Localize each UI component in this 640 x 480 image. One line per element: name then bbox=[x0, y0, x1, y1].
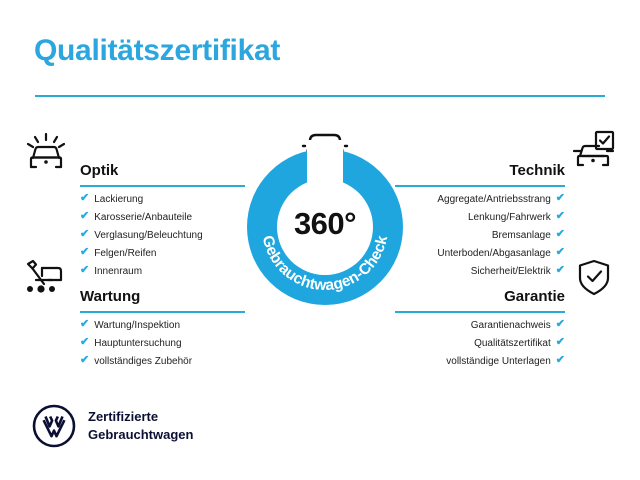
shield-check-icon bbox=[572, 258, 616, 298]
check-icon: ✔ bbox=[80, 355, 89, 366]
list-item-label: Verglasung/Beleuchtung bbox=[94, 231, 202, 241]
check-icon: ✔ bbox=[556, 229, 565, 240]
list-item: Unterboden/Abgasanlage ✔ bbox=[395, 248, 565, 259]
list-item: Aggregate/Antriebsstrang ✔ bbox=[395, 194, 565, 205]
list-item-label: vollständige Unterlagen bbox=[446, 357, 551, 367]
list-item-label: Qualitätszertifikat bbox=[474, 339, 551, 349]
section-optik-list: ✔ Lackierung ✔ Karosserie/Anbauteile ✔ V… bbox=[80, 194, 245, 277]
footer-brand: Zertifizierte Gebrauchtwagen bbox=[32, 404, 193, 448]
check-icon: ✔ bbox=[556, 337, 565, 348]
list-item-label: Karosserie/Anbauteile bbox=[94, 213, 192, 223]
list-item: Qualitätszertifikat ✔ bbox=[395, 338, 565, 349]
section-garantie-header: Garantie bbox=[395, 271, 565, 305]
list-item-label: Unterboden/Abgasanlage bbox=[437, 249, 550, 259]
section-technik-list: Aggregate/Antriebsstrang ✔ Lenkung/Fahrw… bbox=[395, 194, 565, 277]
check-icon: ✔ bbox=[556, 355, 565, 366]
section-optik-title: Optik bbox=[80, 163, 118, 179]
list-item: ✔ Lackierung bbox=[80, 194, 245, 205]
check-icon: ✔ bbox=[556, 211, 565, 222]
list-item-label: Bremsanlage bbox=[492, 231, 551, 241]
section-wartung-list: ✔ Wartung/Inspektion ✔ Hauptuntersuchung… bbox=[80, 320, 245, 367]
check-icon: ✔ bbox=[556, 247, 565, 258]
section-garantie-divider bbox=[395, 311, 565, 313]
check-icon: ✔ bbox=[556, 319, 565, 330]
list-item: vollständige Unterlagen ✔ bbox=[395, 356, 565, 367]
section-wartung-header: Wartung bbox=[80, 271, 245, 305]
list-item-label: Felgen/Reifen bbox=[94, 249, 156, 259]
check-icon: ✔ bbox=[80, 193, 89, 204]
list-item-label: Lackierung bbox=[94, 195, 143, 205]
list-item-label: Garantienachweis bbox=[471, 321, 551, 331]
badge-360-gebrauchtwagen-check: Gebrauchtwagen-Check 360° bbox=[245, 120, 405, 305]
list-item: Bremsanlage ✔ bbox=[395, 230, 565, 241]
section-wartung-divider bbox=[80, 311, 245, 313]
section-optik: Optik ✔ Lackierung ✔ Karosserie/Anbautei… bbox=[80, 145, 245, 284]
list-item: ✔ Hauptuntersuchung bbox=[80, 338, 245, 349]
list-item: Garantienachweis ✔ bbox=[395, 320, 565, 331]
footer-line-2: Gebrauchtwagen bbox=[88, 426, 193, 444]
footer-brand-text: Zertifizierte Gebrauchtwagen bbox=[88, 408, 193, 443]
section-garantie: Garantie Garantienachweis ✔ Qualitätszer… bbox=[395, 271, 565, 374]
check-icon: ✔ bbox=[80, 337, 89, 348]
list-item-label: Wartung/Inspektion bbox=[94, 321, 180, 331]
page-title: Qualitätszertifikat bbox=[34, 34, 280, 68]
footer-line-1: Zertifizierte bbox=[88, 408, 193, 426]
check-icon: ✔ bbox=[80, 229, 89, 240]
section-technik-title: Technik bbox=[509, 163, 565, 179]
check-icon: ✔ bbox=[556, 193, 565, 204]
list-item: ✔ Verglasung/Beleuchtung bbox=[80, 230, 245, 241]
list-item: ✔ Wartung/Inspektion bbox=[80, 320, 245, 331]
section-wartung-title: Wartung bbox=[80, 289, 140, 305]
list-item-label: Hauptuntersuchung bbox=[94, 339, 181, 349]
certificate-page: Qualitätszertifikat Optik bbox=[0, 0, 640, 480]
section-technik-header: Technik bbox=[395, 145, 565, 179]
section-optik-divider bbox=[80, 185, 245, 187]
badge-degrees: 360° bbox=[245, 206, 405, 242]
title-divider bbox=[35, 95, 605, 97]
check-icon: ✔ bbox=[80, 247, 89, 258]
check-icon: ✔ bbox=[80, 211, 89, 222]
section-technik: Technik Aggregate/Antriebsstrang ✔ Lenku… bbox=[395, 145, 565, 284]
check-icon: ✔ bbox=[80, 319, 89, 330]
list-item: ✔ Felgen/Reifen bbox=[80, 248, 245, 259]
car-front-shine-icon bbox=[24, 132, 68, 172]
list-item: ✔ vollständiges Zubehör bbox=[80, 356, 245, 367]
section-technik-divider bbox=[395, 185, 565, 187]
wrench-car-icon bbox=[22, 258, 66, 298]
list-item-label: Aggregate/Antriebsstrang bbox=[437, 195, 550, 205]
list-item-label: vollständiges Zubehör bbox=[94, 357, 192, 367]
section-optik-header: Optik bbox=[80, 145, 245, 179]
section-garantie-list: Garantienachweis ✔ Qualitätszertifikat ✔… bbox=[395, 320, 565, 367]
section-wartung: Wartung ✔ Wartung/Inspektion ✔ Hauptunte… bbox=[80, 271, 245, 374]
list-item: Lenkung/Fahrwerk ✔ bbox=[395, 212, 565, 223]
section-garantie-title: Garantie bbox=[504, 289, 565, 305]
vw-logo-icon bbox=[32, 404, 76, 448]
list-item-label: Lenkung/Fahrwerk bbox=[468, 213, 551, 223]
list-item: ✔ Karosserie/Anbauteile bbox=[80, 212, 245, 223]
car-front-checkbox-icon bbox=[572, 130, 616, 170]
